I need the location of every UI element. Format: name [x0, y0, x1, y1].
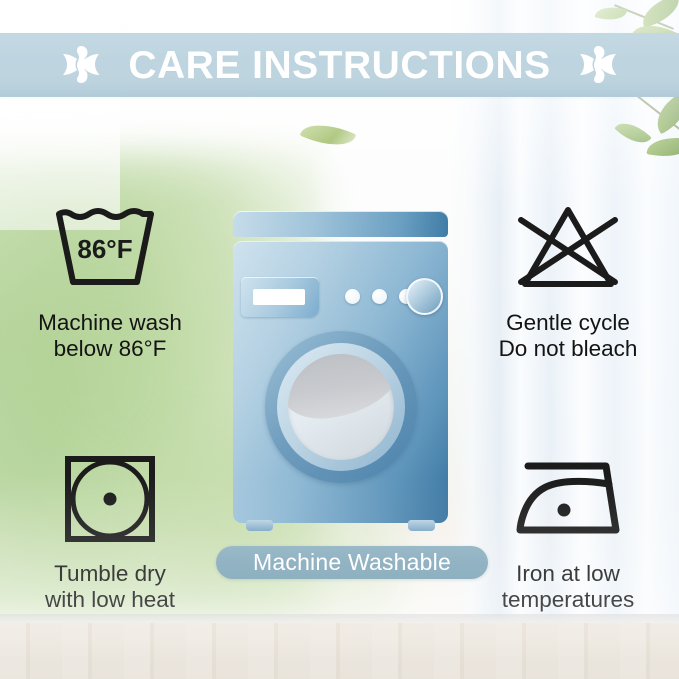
iron-one-dot-icon	[506, 454, 630, 544]
care-item-tumble-dry: Tumble dry with low heat	[10, 443, 210, 612]
care-item-do-not-bleach: Gentle cycle Do not bleach	[468, 192, 668, 361]
care-item-label: Tumble dry with low heat	[10, 561, 210, 612]
do-not-bleach-icon-wrapper	[468, 192, 668, 304]
wash-tub-icon: 86°F	[51, 202, 169, 294]
iron-icon-wrapper	[468, 443, 668, 555]
fleur-de-lis-icon	[52, 42, 110, 88]
triangle-crossed-do-not-bleach-icon	[509, 202, 627, 294]
washer-foot	[408, 520, 435, 531]
machine-washable-badge: Machine Washable	[216, 546, 488, 579]
wash-tub-icon-wrapper: 86°F	[10, 192, 210, 304]
care-item-label: Iron at low temperatures	[468, 561, 668, 612]
page-title: CARE INSTRUCTIONS	[128, 46, 550, 85]
fleur-de-lis-icon	[569, 42, 627, 88]
washer-door-ring	[277, 343, 405, 471]
washer-door-glass	[288, 354, 394, 460]
care-item-label: Gentle cycle Do not bleach	[468, 310, 668, 361]
washer-program-knob	[406, 278, 443, 315]
background-wood-surface	[0, 623, 679, 679]
washer-indicator-dot	[372, 289, 387, 304]
washer-body	[233, 241, 448, 523]
washer-top-panel	[233, 211, 448, 237]
badge-label: Machine Washable	[253, 551, 451, 574]
washer-door	[265, 331, 417, 483]
background-table-edge	[0, 614, 679, 623]
tumble-dry-icon-wrapper	[10, 443, 210, 555]
washer-door-glass-highlight	[288, 354, 394, 424]
washer-foot	[246, 520, 273, 531]
care-item-label: Machine wash below 86°F	[10, 310, 210, 361]
washing-machine-illustration	[233, 211, 448, 527]
wash-temperature-value: 86°F	[77, 234, 132, 264]
care-item-iron-low: Iron at low temperatures	[468, 443, 668, 612]
washer-display	[253, 289, 305, 305]
header-banner: CARE INSTRUCTIONS	[0, 33, 679, 97]
washer-indicator-lights	[345, 289, 414, 304]
tumble-dry-low-icon	[60, 451, 160, 547]
care-item-machine-wash: 86°F Machine wash below 86°F	[10, 192, 210, 361]
washer-indicator-dot	[345, 289, 360, 304]
washer-control-panel	[241, 277, 319, 317]
care-instructions-card: CARE INSTRUCTIONS 86°F Machine wash belo…	[0, 0, 679, 679]
